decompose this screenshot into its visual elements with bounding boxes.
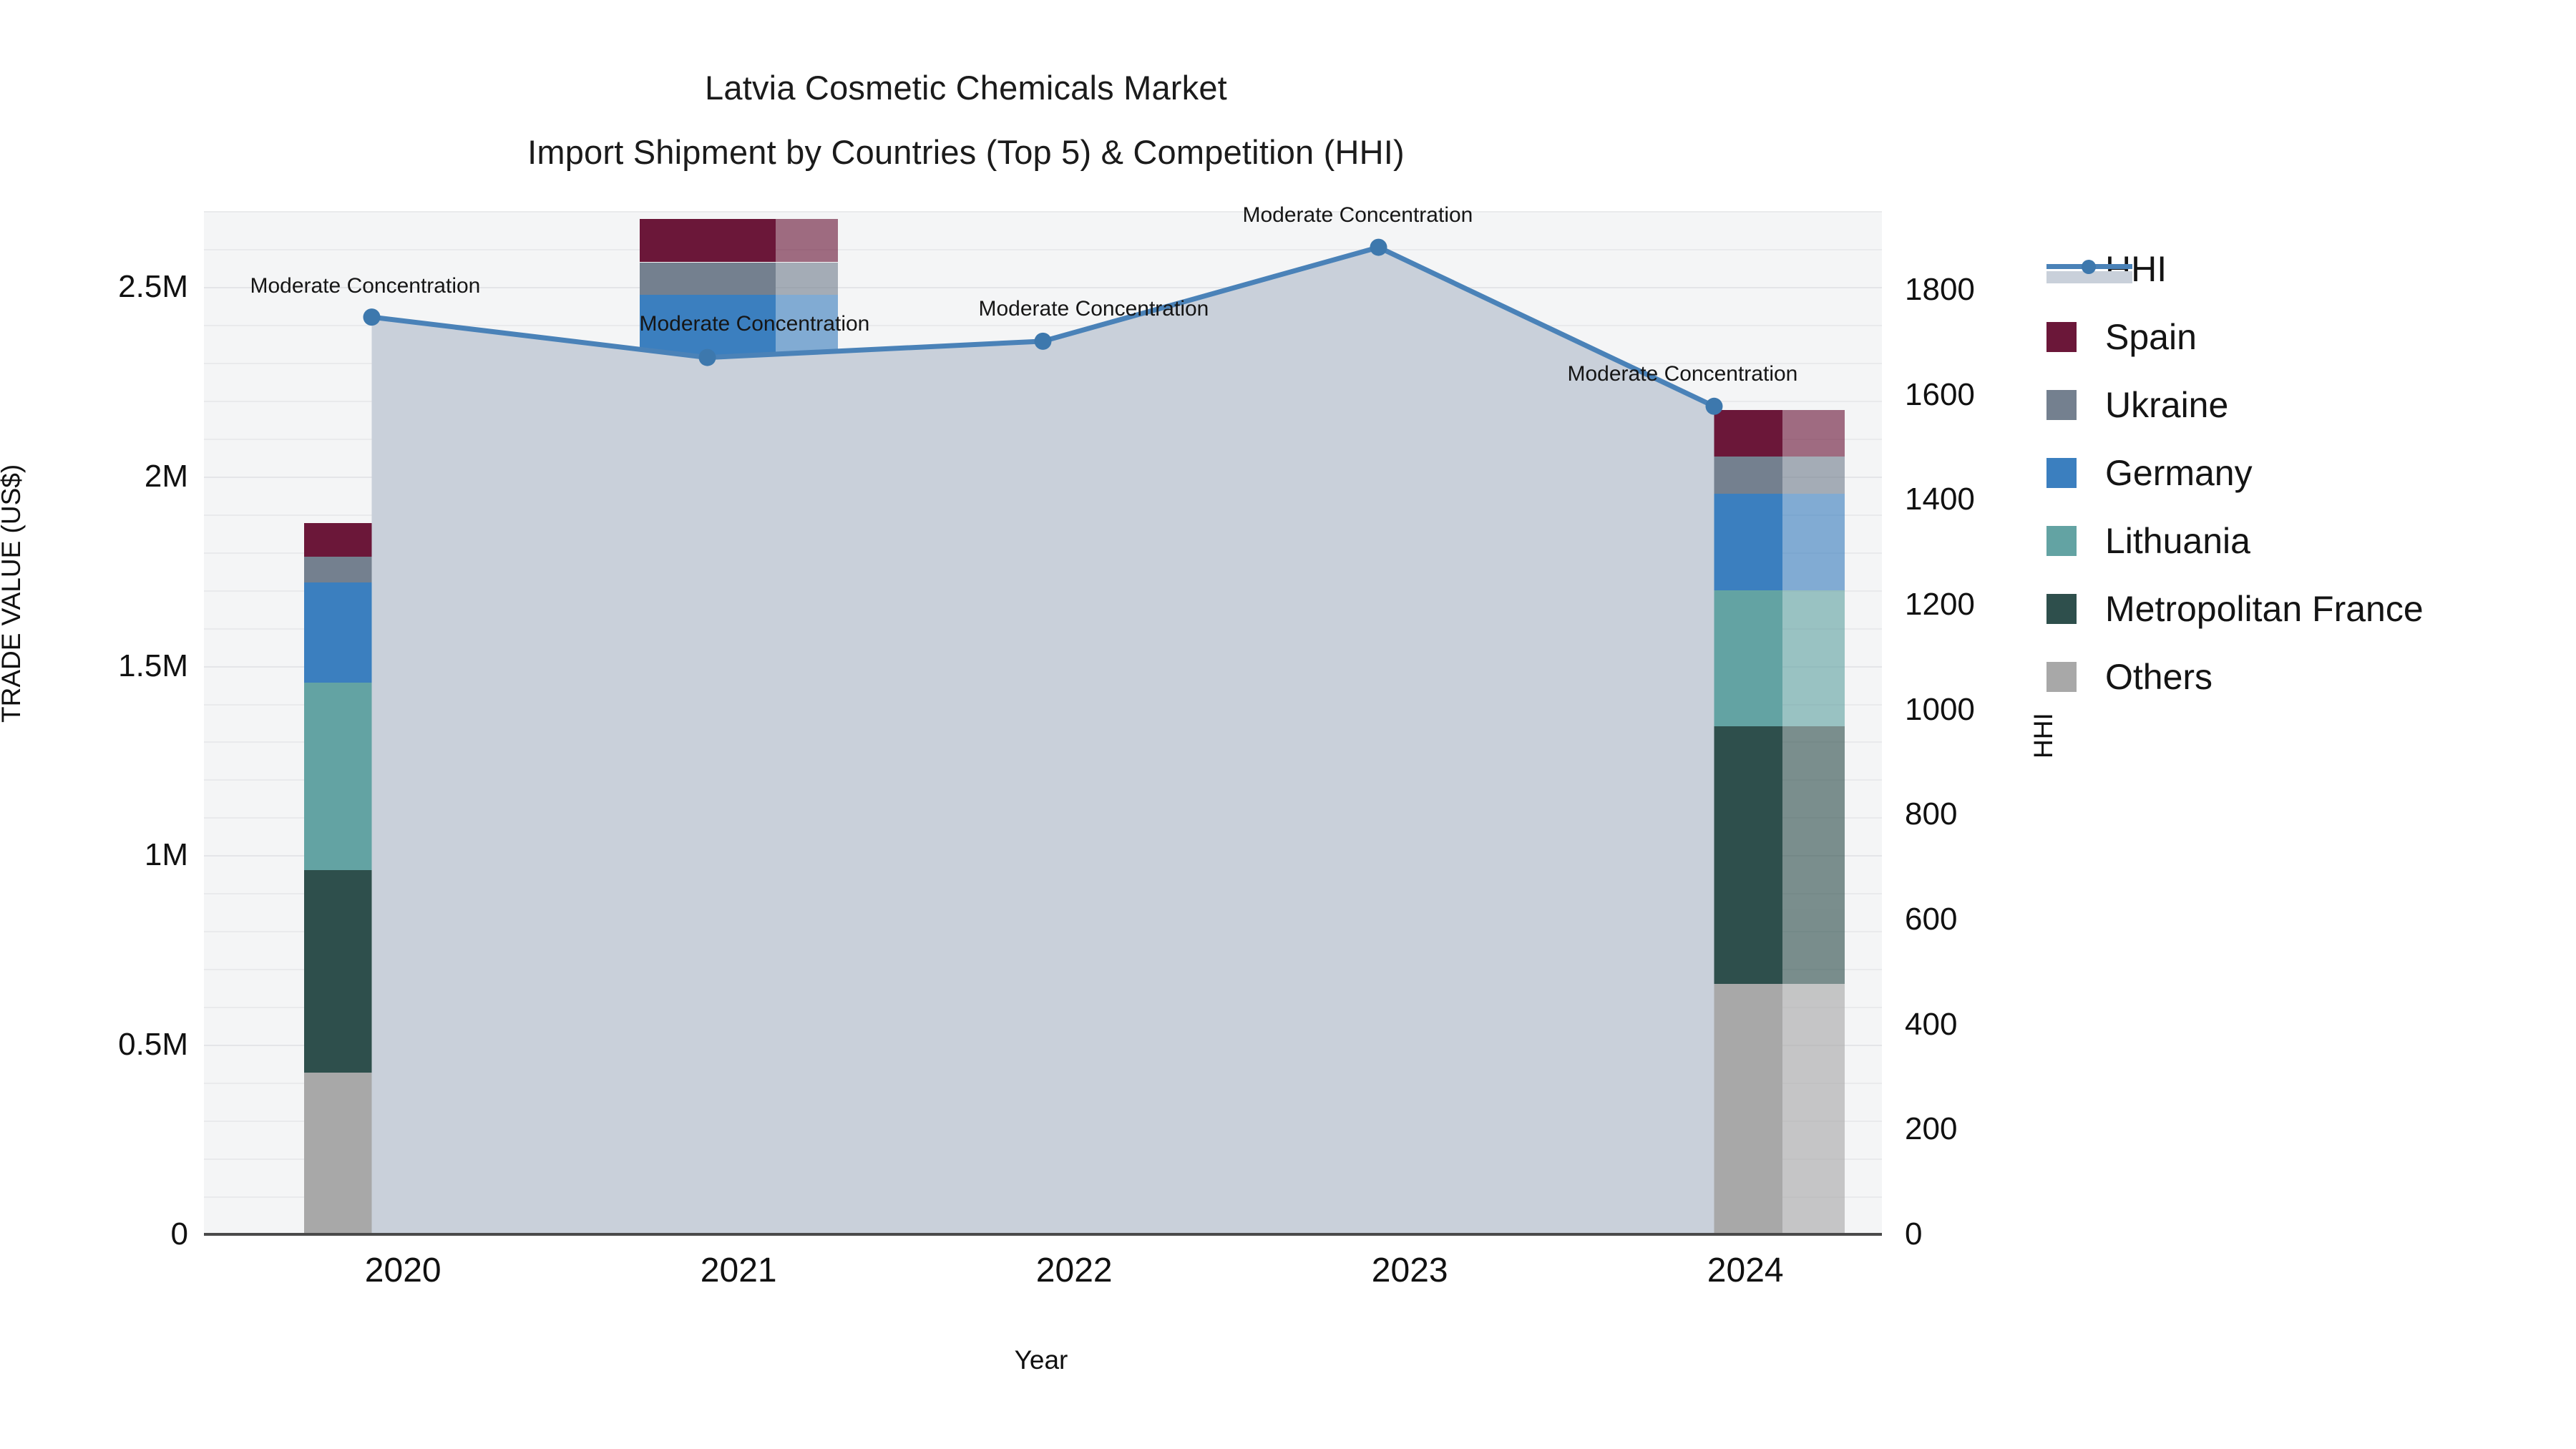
chart-canvas: Latvia Cosmetic Chemicals Market Import … — [0, 0, 2576, 1449]
y-tick-right: 0 — [1905, 1216, 1922, 1252]
legend-label: Spain — [2105, 316, 2197, 358]
legend-item-others[interactable]: Others — [2046, 643, 2424, 711]
x-axis-label: Year — [0, 1345, 2082, 1375]
y-tick-right: 1600 — [1905, 377, 1975, 413]
y-tick-right: 1400 — [1905, 482, 1975, 517]
annotation-2023: Moderate Concentration — [1243, 205, 1473, 226]
hhi-marker-2022[interactable] — [1035, 333, 1052, 350]
chart-title: Latvia Cosmetic Chemicals Market — [0, 56, 1932, 120]
y-tick-left: 0.5M — [118, 1027, 188, 1063]
legend-label: Ukraine — [2105, 384, 2228, 426]
legend-item-spain[interactable]: Spain — [2046, 303, 2424, 371]
legend-swatch — [2046, 322, 2077, 352]
hhi-marker-2024[interactable] — [1706, 398, 1723, 415]
legend-swatch — [2046, 662, 2077, 692]
x-tick-2024: 2024 — [1707, 1251, 1784, 1290]
y-tick-right: 400 — [1905, 1007, 1957, 1043]
hhi-marker-2021[interactable] — [699, 349, 716, 366]
hhi-line-path — [372, 248, 1714, 406]
y-tick-left: 1.5M — [118, 648, 188, 684]
legend-item-ukraine[interactable]: Ukraine — [2046, 371, 2424, 439]
legend-label: Metropolitan France — [2105, 588, 2424, 630]
y-axis-left-label: TRADE VALUE (US$) — [0, 464, 26, 723]
legend-swatch — [2046, 390, 2077, 420]
y-tick-right: 1200 — [1905, 587, 1975, 623]
annotation-2022: Moderate Concentration — [979, 298, 1209, 320]
legend-swatch — [2046, 458, 2077, 488]
x-tick-2020: 2020 — [365, 1251, 441, 1290]
chart-legend: HHISpainUkraineGermanyLithuaniaMetropoli… — [2046, 235, 2424, 711]
x-tick-2022: 2022 — [1036, 1251, 1113, 1290]
x-axis-line — [204, 1233, 1882, 1236]
x-tick-2023: 2023 — [1372, 1251, 1448, 1290]
legend-label: Others — [2105, 656, 2212, 698]
y-tick-left: 2.5M — [118, 269, 188, 305]
x-tick-2021: 2021 — [701, 1251, 777, 1290]
y-tick-right: 1000 — [1905, 692, 1975, 728]
annotation-2020: Moderate Concentration — [250, 275, 481, 297]
y-tick-left: 0 — [171, 1216, 188, 1252]
y-tick-right: 600 — [1905, 902, 1957, 937]
y-tick-right: 800 — [1905, 796, 1957, 832]
chart-subtitle: Import Shipment by Countries (Top 5) & C… — [0, 120, 1932, 185]
legend-item-lithuania[interactable]: Lithuania — [2046, 507, 2424, 575]
legend-item-germany[interactable]: Germany — [2046, 439, 2424, 507]
y-axis-right-label: HHI — [2029, 713, 2059, 758]
annotation-2021: Moderate Concentration — [640, 313, 870, 335]
legend-label: Germany — [2105, 452, 2253, 494]
hhi-marker-2020[interactable] — [364, 308, 381, 326]
y-tick-right: 1800 — [1905, 272, 1975, 308]
legend-item-metropolitan-france[interactable]: Metropolitan France — [2046, 575, 2424, 643]
legend-label: Lithuania — [2105, 520, 2250, 562]
y-tick-right: 200 — [1905, 1111, 1957, 1147]
legend-item-hhi[interactable]: HHI — [2046, 235, 2424, 303]
annotation-2024: Moderate Concentration — [1568, 364, 1798, 385]
hhi-marker-2023[interactable] — [1370, 239, 1387, 256]
y-tick-left: 2M — [145, 459, 188, 494]
hhi-line-swatch — [2046, 254, 2132, 284]
legend-swatch — [2046, 526, 2077, 556]
y-tick-left: 1M — [145, 837, 188, 873]
legend-swatch — [2046, 594, 2077, 624]
chart-title-block: Latvia Cosmetic Chemicals Market Import … — [0, 56, 1932, 185]
